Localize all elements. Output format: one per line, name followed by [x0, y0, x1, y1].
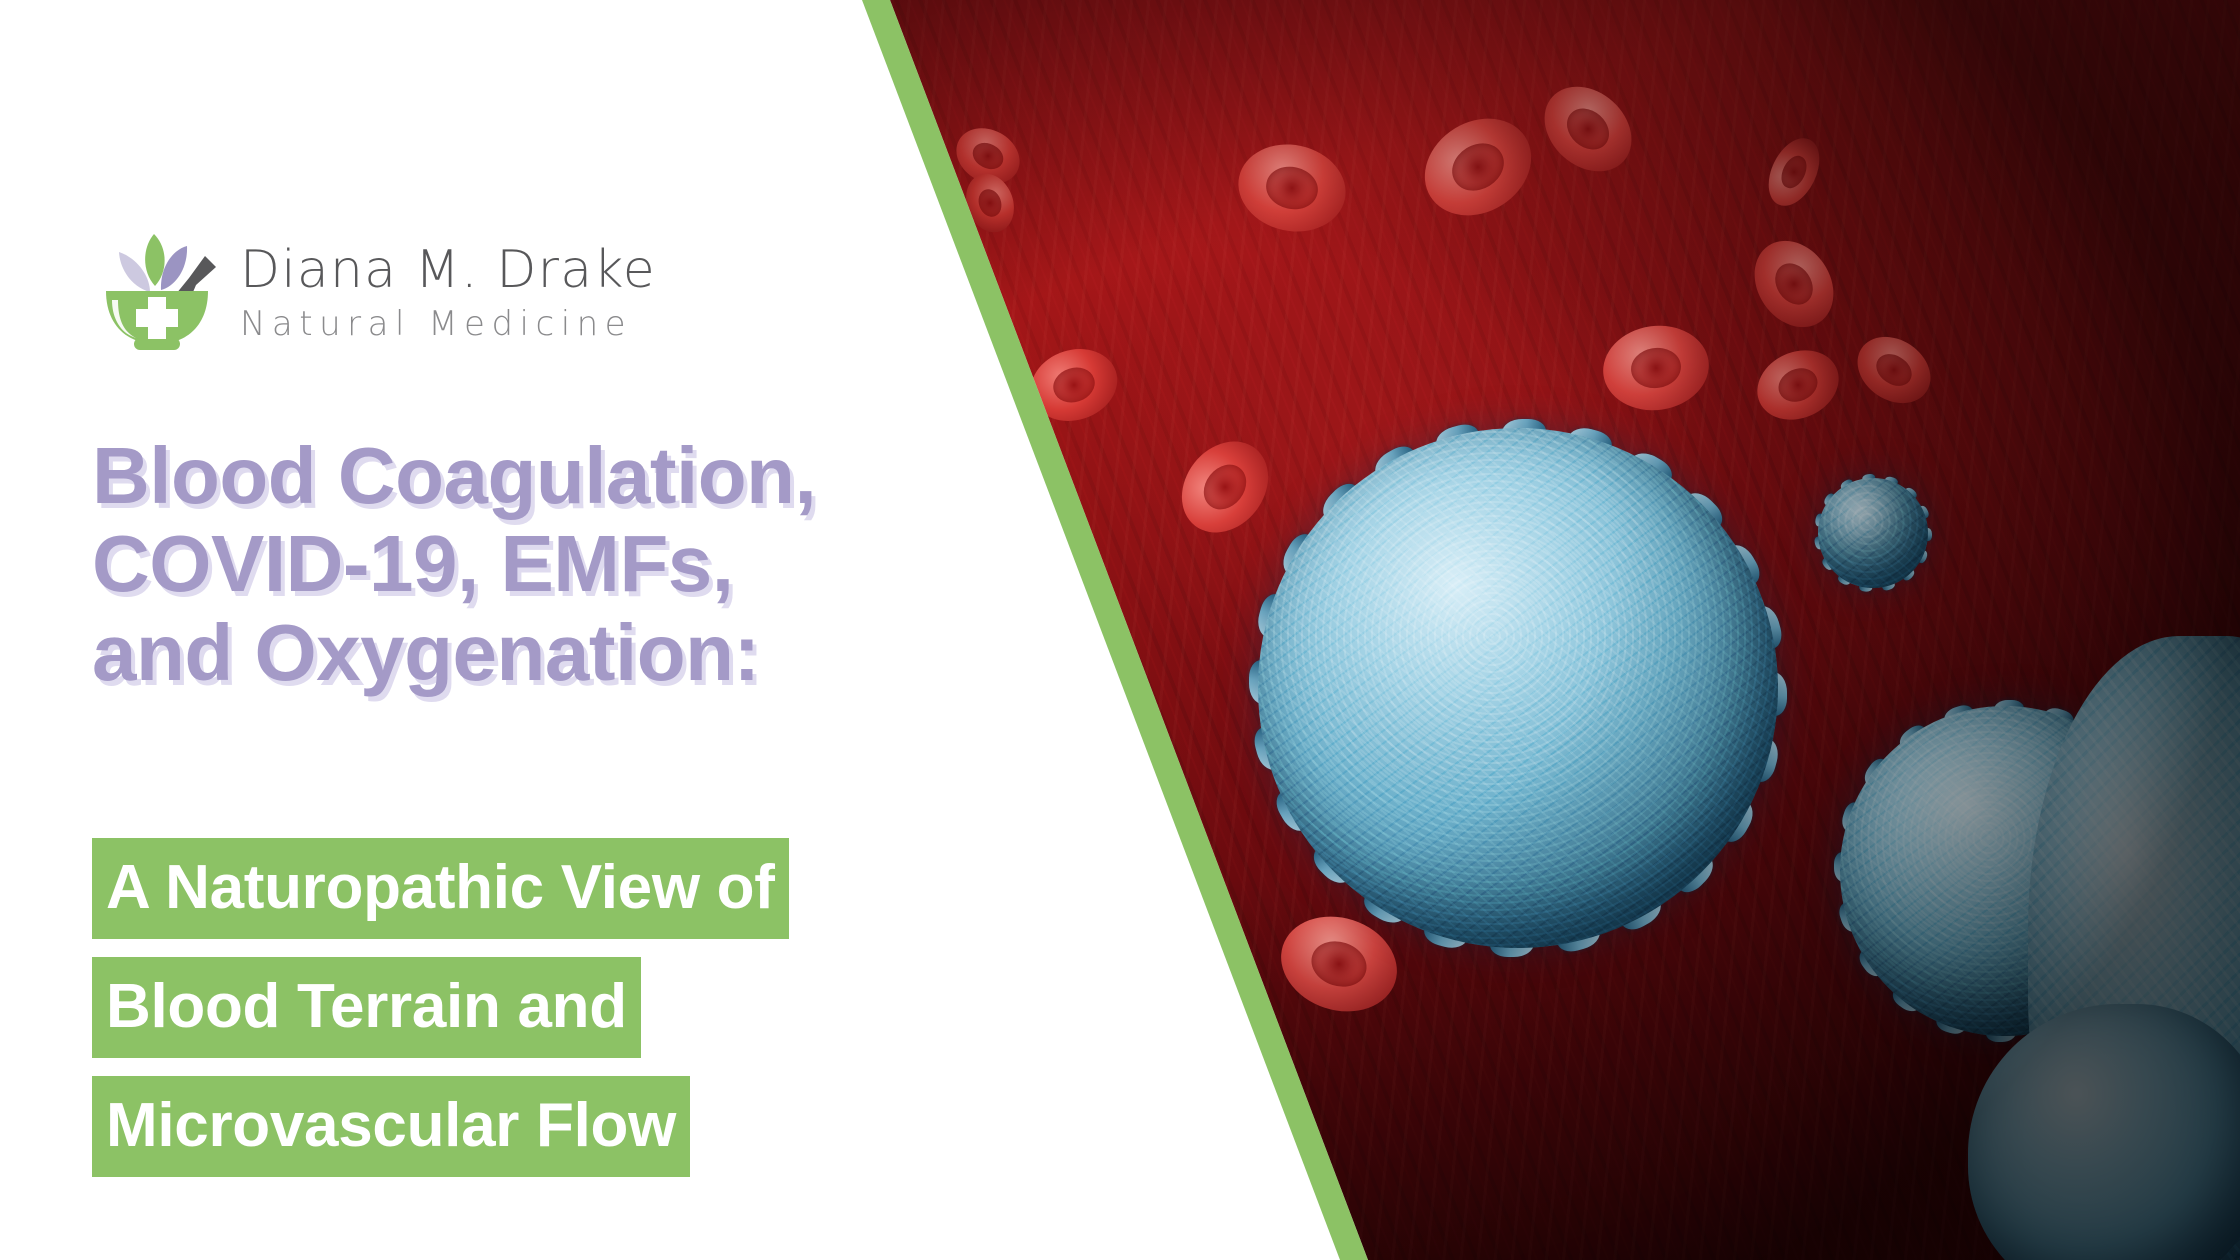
- left-content-panel: Diana M. Drake Natural Medicine Blood Co…: [0, 0, 870, 1260]
- title-line-3: and Oxygenation:: [92, 609, 852, 697]
- brand-wordmark: Diana M. Drake Natural Medicine: [240, 240, 656, 341]
- brand-name: Diana M. Drake: [240, 244, 656, 296]
- brand-logo[interactable]: Diana M. Drake Natural Medicine: [92, 228, 656, 353]
- subtitle-line-2: Blood Terrain and: [92, 957, 641, 1058]
- brand-tagline: Natural Medicine: [240, 307, 656, 341]
- page-subtitle: A Naturopathic View of Blood Terrain and…: [92, 838, 789, 1177]
- subtitle-line-3: Microvascular Flow: [92, 1076, 690, 1177]
- title-line-2: COVID-19, EMFs,: [92, 520, 852, 608]
- subtitle-line-1: A Naturopathic View of: [92, 838, 789, 939]
- page-title: Blood Coagulation, COVID-19, EMFs, and O…: [92, 432, 852, 697]
- slide-canvas: Diana M. Drake Natural Medicine Blood Co…: [0, 0, 2240, 1260]
- title-line-1: Blood Coagulation,: [92, 432, 852, 520]
- mortar-and-pestle-with-leaves-icon: [92, 228, 222, 353]
